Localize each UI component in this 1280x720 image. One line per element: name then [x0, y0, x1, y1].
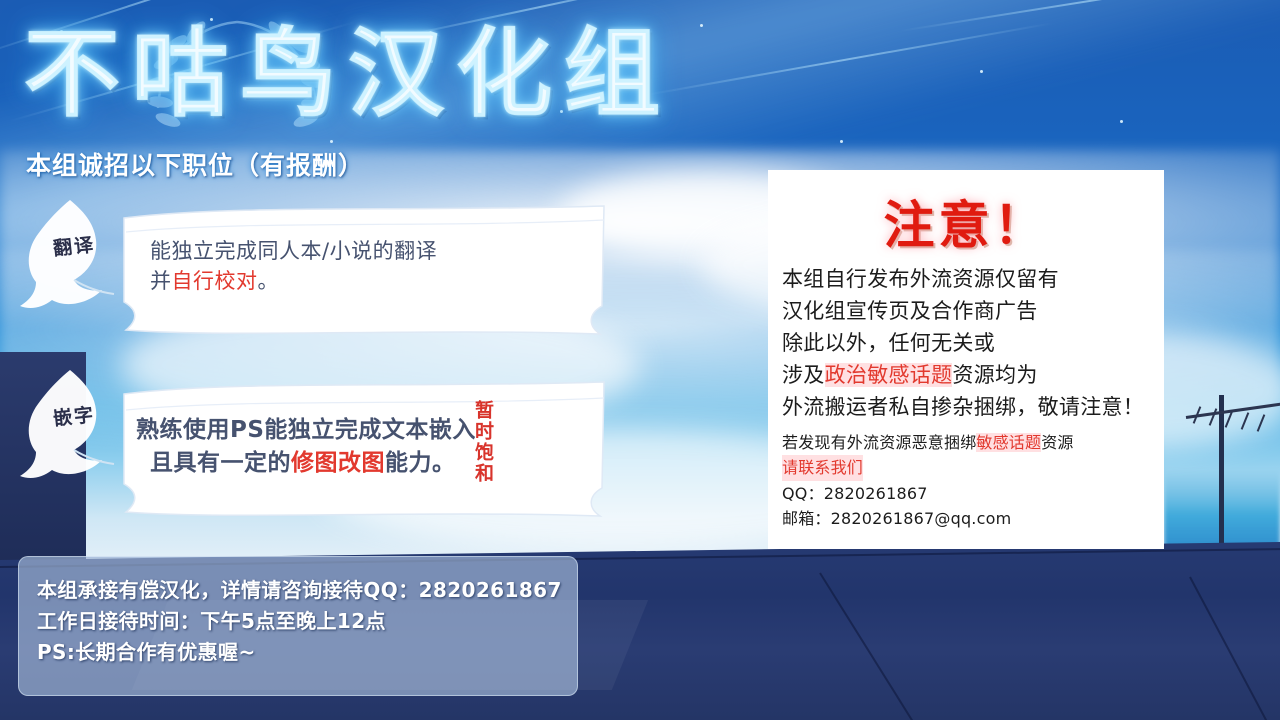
contact-cta-text: 请联系我们	[782, 455, 863, 481]
notice-highlight: 政治敏感话题	[825, 363, 953, 387]
notice-highlight: 敏感话题	[976, 433, 1041, 452]
role-line-2: 且具有一定的修图改图能力。	[136, 447, 716, 480]
notice-panel: 注意！ 本组自行发布外流资源仅留有 汉化组宣传页及合作商广告 除此以外，任何无关…	[768, 170, 1164, 549]
role-status-badge: 暂时饱和	[462, 400, 492, 484]
notice-text: 外流搬运者私自掺杂捆绑，敬请注意！	[782, 395, 1144, 419]
sparkle-dot	[980, 70, 983, 73]
logo-subtitle: 本组诚招以下职位（有报酬）	[26, 146, 364, 182]
role-line2-suffix: 。	[258, 269, 280, 293]
notice-text: 资源均为	[952, 363, 1037, 387]
sparkle-dot	[840, 140, 843, 143]
role-description: 能独立完成同人本/小说的翻译 并自行校对。	[150, 236, 730, 297]
role-line-2: 并自行校对。	[150, 266, 730, 296]
role-line2-prefix: 并	[150, 269, 172, 293]
logo-title: 不咕鸟汉化组	[24, 14, 764, 134]
notice-text: 除此以外，任何无关或	[782, 331, 995, 355]
notice-contact-cta: 请联系我们	[782, 455, 1164, 481]
commission-line-2: 工作日接待时间：下午5点至晚上12点	[37, 606, 577, 637]
antenna-mast	[1219, 395, 1224, 545]
notice-text: 涉及	[782, 363, 825, 387]
notice-small-line: 若发现有外流资源恶意捆绑敏感话题资源	[782, 430, 1164, 456]
role-line-1: 熟练使用PS能独立完成文本嵌入	[136, 414, 716, 447]
role-line-1: 能独立完成同人本/小说的翻译	[150, 236, 730, 266]
role-line2-highlight: 自行校对	[172, 269, 258, 293]
promo-poster: 不咕鸟汉化组 本组诚招以下职位（有报酬） 能独立完成同人本/小说的翻译 并自行校…	[0, 0, 1280, 720]
notice-footnote: 若发现有外流资源恶意捆绑敏感话题资源 请联系我们 QQ：2820261867 邮…	[782, 430, 1164, 532]
notice-line: 外流搬运者私自掺杂捆绑，敬请注意！	[782, 392, 1164, 424]
notice-text: 汉化组宣传页及合作商广告	[782, 299, 1038, 323]
notice-text: 若发现有外流资源恶意捆绑	[782, 433, 976, 452]
notice-body: 本组自行发布外流资源仅留有 汉化组宣传页及合作商广告 除此以外，任何无关或 涉及…	[782, 264, 1164, 424]
role-description: 熟练使用PS能独立完成文本嵌入 且具有一定的修图改图能力。	[136, 414, 716, 481]
sparkle-dot	[1120, 120, 1123, 123]
notice-text: 资源	[1041, 433, 1073, 452]
commission-line-1: 本组承接有偿汉化，详情请咨询接待QQ：2820261867	[37, 575, 577, 606]
notice-email[interactable]: 邮箱：2820261867@qq.com	[782, 506, 1164, 532]
notice-line: 涉及政治敏感话题资源均为	[782, 360, 1164, 392]
role-line2-prefix: 且具有一定的	[150, 450, 291, 476]
role-line2-suffix: 能力。	[385, 450, 456, 476]
role-line2-highlight: 修图改图	[291, 450, 385, 476]
notice-line: 除此以外，任何无关或	[782, 328, 1164, 360]
group-logo: 不咕鸟汉化组	[24, 14, 764, 144]
commission-info-box: 本组承接有偿汉化，详情请咨询接待QQ：2820261867 工作日接待时间：下午…	[18, 556, 578, 696]
notice-line: 本组自行发布外流资源仅留有	[782, 264, 1164, 296]
role-card-typesetter: 熟练使用PS能独立完成文本嵌入 且具有一定的修图改图能力。 嵌字	[18, 366, 598, 516]
commission-line-3: PS:长期合作有优惠喔~	[37, 637, 577, 668]
notice-qq[interactable]: QQ：2820261867	[782, 481, 1164, 507]
notice-line: 汉化组宣传页及合作商广告	[782, 296, 1164, 328]
notice-text: 本组自行发布外流资源仅留有	[782, 267, 1059, 291]
role-card-translator: 能独立完成同人本/小说的翻译 并自行校对。 翻译	[18, 196, 598, 336]
notice-title: 注意！	[768, 184, 1164, 258]
